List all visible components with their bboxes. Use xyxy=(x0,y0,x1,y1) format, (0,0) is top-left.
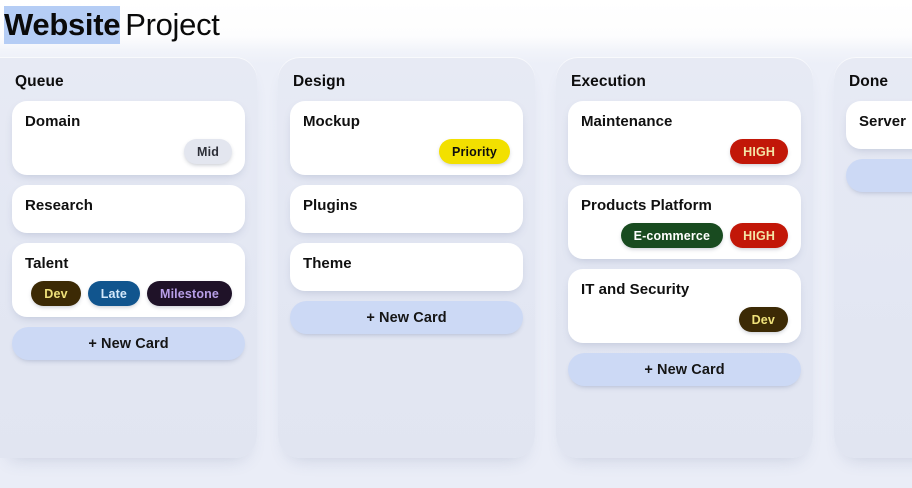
card-tag-list: Priority xyxy=(303,139,510,164)
page-header: WebsiteProject xyxy=(0,0,912,50)
card-title: Products Platform xyxy=(581,196,788,215)
card-tag-list: DevLateMilestone xyxy=(25,281,232,306)
card-tag-list: Mid xyxy=(25,139,232,164)
column-title: Done xyxy=(849,73,912,91)
column-title: Queue xyxy=(15,73,245,91)
card-tag-late[interactable]: Late xyxy=(88,281,140,306)
new-card-button[interactable]: + New Card xyxy=(290,301,523,334)
page-title: WebsiteProject xyxy=(4,7,220,43)
column-title: Execution xyxy=(571,73,801,91)
card-title: Research xyxy=(25,196,232,215)
kanban-app: WebsiteProject QueueDomainMidResearchTal… xyxy=(0,0,912,488)
kanban-card[interactable]: IT and SecurityDev xyxy=(568,269,801,343)
card-tag-priority[interactable]: Priority xyxy=(439,139,510,164)
card-title: Theme xyxy=(303,254,510,273)
card-tag-mid[interactable]: Mid xyxy=(184,139,232,164)
kanban-card[interactable]: MaintenanceHIGH xyxy=(568,101,801,175)
kanban-card[interactable]: Research xyxy=(12,185,245,233)
kanban-column-design: DesignMockupPriorityPluginsTheme+ New Ca… xyxy=(278,57,535,458)
page-title-rest-text: Project xyxy=(120,7,219,42)
column-title: Design xyxy=(293,73,523,91)
card-tag-list: HIGH xyxy=(581,139,788,164)
card-tag-e-commerce[interactable]: E-commerce xyxy=(621,223,724,248)
kanban-card[interactable]: MockupPriority xyxy=(290,101,523,175)
kanban-card[interactable]: TalentDevLateMilestone xyxy=(12,243,245,317)
new-card-button[interactable]: + New Card xyxy=(12,327,245,360)
page-title-selected-text[interactable]: Website xyxy=(4,6,120,44)
card-title: Talent xyxy=(25,254,232,273)
kanban-column-queue: QueueDomainMidResearchTalentDevLateMiles… xyxy=(0,57,257,458)
new-card-button[interactable]: + New Card xyxy=(568,353,801,386)
kanban-card[interactable]: Products PlatformE-commerceHIGH xyxy=(568,185,801,259)
kanban-card[interactable]: Plugins xyxy=(290,185,523,233)
kanban-board: QueueDomainMidResearchTalentDevLateMiles… xyxy=(0,57,912,488)
new-card-button[interactable]: + New Card xyxy=(846,159,912,192)
kanban-column-execution: ExecutionMaintenanceHIGHProducts Platfor… xyxy=(556,57,813,458)
card-list: Server xyxy=(846,101,912,149)
card-title: Server xyxy=(859,112,912,131)
card-tag-dev[interactable]: Dev xyxy=(31,281,80,306)
card-title: Plugins xyxy=(303,196,510,215)
card-tag-milestone[interactable]: Milestone xyxy=(147,281,232,306)
card-list: DomainMidResearchTalentDevLateMilestone xyxy=(12,101,245,317)
kanban-column-done: DoneServer+ New Card xyxy=(834,57,912,458)
card-title: Domain xyxy=(25,112,232,131)
kanban-card[interactable]: Server xyxy=(846,101,912,149)
card-title: Maintenance xyxy=(581,112,788,131)
card-tag-high[interactable]: HIGH xyxy=(730,223,788,248)
kanban-card[interactable]: DomainMid xyxy=(12,101,245,175)
card-tag-list: E-commerceHIGH xyxy=(581,223,788,248)
card-title: Mockup xyxy=(303,112,510,131)
card-list: MaintenanceHIGHProducts PlatformE-commer… xyxy=(568,101,801,343)
card-tag-list: Dev xyxy=(581,307,788,332)
card-tag-high[interactable]: HIGH xyxy=(730,139,788,164)
card-tag-dev[interactable]: Dev xyxy=(739,307,788,332)
card-list: MockupPriorityPluginsTheme xyxy=(290,101,523,291)
card-title: IT and Security xyxy=(581,280,788,299)
kanban-card[interactable]: Theme xyxy=(290,243,523,291)
